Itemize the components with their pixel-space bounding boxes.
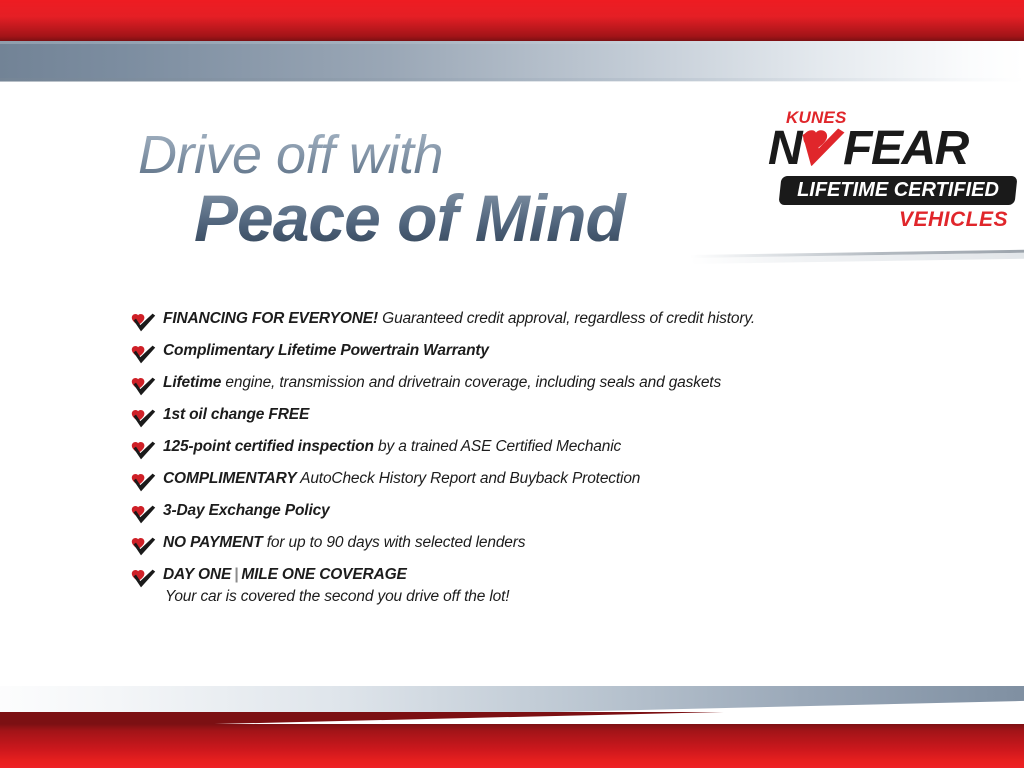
benefit-text: COMPLIMENTARY AutoCheck History Report a… bbox=[163, 470, 961, 489]
benefit-item: Lifetime engine, transmission and drivet… bbox=[131, 374, 961, 397]
promo-banner-page: Drive off with Peace of Mind KUNES NFEAR… bbox=[0, 0, 1024, 768]
benefit-body: 1st oil change FREE bbox=[163, 406, 961, 425]
logo-certified-text: LIFETIME CERTIFIED bbox=[780, 176, 1016, 205]
heart-check-bullet-icon bbox=[131, 345, 156, 365]
benefit-text-bold: NO PAYMENT bbox=[163, 534, 263, 551]
top-gray-shadow bbox=[0, 78, 1024, 82]
bottom-red-band bbox=[0, 724, 1024, 768]
logo-vehicles-text: VEHICLES bbox=[899, 208, 1008, 232]
benefit-item: 125-point certified inspection by a trai… bbox=[131, 438, 961, 461]
benefit-text-normal: AutoCheck History Report and Buyback Pro… bbox=[297, 470, 641, 487]
top-gray-highlight bbox=[0, 41, 1024, 44]
benefits-list: FINANCING FOR EVERYONE! Guaranteed credi… bbox=[131, 310, 961, 616]
benefit-text: NO PAYMENT for up to 90 days with select… bbox=[163, 534, 961, 553]
benefit-item: DAY ONE|MILE ONE COVERAGEYour car is cov… bbox=[131, 566, 961, 607]
headline: Drive off with Peace of Mind bbox=[138, 128, 738, 253]
benefit-text-normal: engine, transmission and drivetrain cove… bbox=[221, 374, 721, 391]
benefit-body: FINANCING FOR EVERYONE! Guaranteed credi… bbox=[163, 310, 961, 329]
benefit-text-bold: 125-point certified inspection bbox=[163, 438, 374, 455]
benefit-text-separator: | bbox=[231, 566, 241, 583]
kunes-no-fear-logo: KUNES NFEAR LIFETIME CERTIFIED VEHICLES bbox=[768, 108, 1016, 246]
heart-check-bullet-icon bbox=[131, 377, 156, 397]
headline-line-1: Drive off with bbox=[138, 128, 738, 182]
benefit-subtext: Your car is covered the second you drive… bbox=[165, 588, 961, 607]
heart-check-bullet-icon bbox=[131, 505, 156, 525]
benefit-body: NO PAYMENT for up to 90 days with select… bbox=[163, 534, 961, 553]
benefit-text: 3-Day Exchange Policy bbox=[163, 502, 961, 521]
benefit-body: COMPLIMENTARY AutoCheck History Report a… bbox=[163, 470, 961, 489]
benefit-body: 125-point certified inspection by a trai… bbox=[163, 438, 961, 457]
heart-check-bullet-icon bbox=[131, 473, 156, 493]
benefit-text-bold: FINANCING FOR EVERYONE! bbox=[163, 310, 378, 327]
benefit-item: NO PAYMENT for up to 90 days with select… bbox=[131, 534, 961, 557]
heart-check-icon bbox=[800, 126, 848, 174]
benefit-text-normal: Guaranteed credit approval, regardless o… bbox=[378, 310, 755, 327]
bottom-red-slant-mask bbox=[0, 712, 1024, 724]
benefit-text: FINANCING FOR EVERYONE! Guaranteed credi… bbox=[163, 310, 961, 329]
heart-check-bullet-icon bbox=[131, 537, 156, 557]
benefit-text-bold: Lifetime bbox=[163, 374, 221, 391]
logo-word-fear: FEAR bbox=[843, 125, 968, 173]
benefit-text-bold: DAY ONE bbox=[163, 566, 231, 583]
benefit-body: Lifetime engine, transmission and drivet… bbox=[163, 374, 961, 393]
benefit-text: DAY ONE|MILE ONE COVERAGE bbox=[163, 566, 961, 585]
heart-check-bullet-icon bbox=[131, 409, 156, 429]
benefit-item: COMPLIMENTARY AutoCheck History Report a… bbox=[131, 470, 961, 493]
benefit-text-bold: COMPLIMENTARY bbox=[163, 470, 297, 487]
headline-divider bbox=[690, 248, 1024, 264]
benefit-text: Complimentary Lifetime Powertrain Warran… bbox=[163, 342, 961, 361]
benefit-body: Complimentary Lifetime Powertrain Warran… bbox=[163, 342, 961, 361]
bottom-red-slant bbox=[0, 712, 1024, 724]
benefit-item: 3-Day Exchange Policy bbox=[131, 502, 961, 525]
benefit-body: DAY ONE|MILE ONE COVERAGEYour car is cov… bbox=[163, 566, 961, 607]
benefit-text-normal: by a trained ASE Certified Mechanic bbox=[374, 438, 621, 455]
benefit-text: 125-point certified inspection by a trai… bbox=[163, 438, 961, 457]
benefit-item: FINANCING FOR EVERYONE! Guaranteed credi… bbox=[131, 310, 961, 333]
benefit-text-bold-2: MILE ONE COVERAGE bbox=[241, 566, 406, 583]
benefit-text-normal: for up to 90 days with selected lenders bbox=[263, 534, 526, 551]
benefit-text-bold: Complimentary Lifetime Powertrain Warran… bbox=[163, 342, 489, 359]
heart-check-bullet-icon bbox=[131, 569, 156, 589]
heart-check-bullet-icon bbox=[131, 313, 156, 333]
top-red-band bbox=[0, 0, 1024, 41]
benefit-text-bold: 3-Day Exchange Policy bbox=[163, 502, 330, 519]
benefit-text: 1st oil change FREE bbox=[163, 406, 961, 425]
heart-check-bullet-icon bbox=[131, 441, 156, 461]
benefit-text: Lifetime engine, transmission and drivet… bbox=[163, 374, 961, 393]
benefit-text-bold: 1st oil change FREE bbox=[163, 406, 309, 423]
logo-letter-n: N bbox=[768, 125, 801, 173]
benefit-item: Complimentary Lifetime Powertrain Warran… bbox=[131, 342, 961, 365]
logo-no-fear-wordmark: NFEAR bbox=[768, 125, 968, 174]
headline-line-2: Peace of Mind bbox=[194, 184, 738, 253]
top-gray-band bbox=[0, 41, 1024, 81]
benefit-item: 1st oil change FREE bbox=[131, 406, 961, 429]
benefit-body: 3-Day Exchange Policy bbox=[163, 502, 961, 521]
